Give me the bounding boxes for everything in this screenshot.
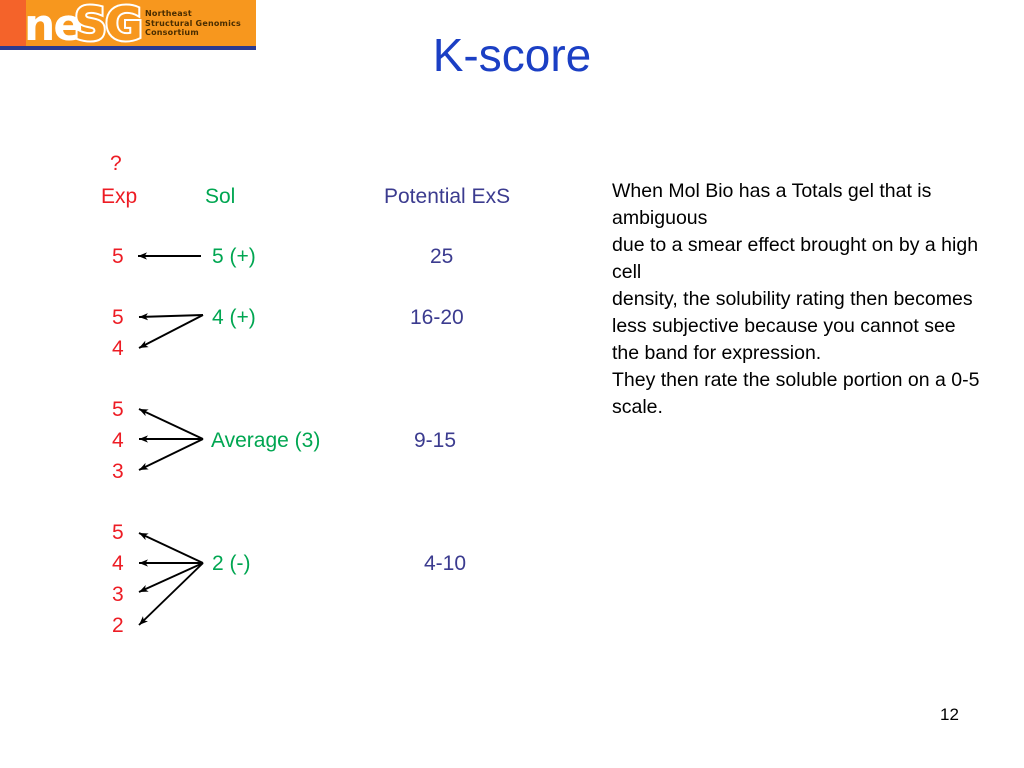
table-row: 16-20	[410, 306, 464, 330]
table-row: 5	[112, 306, 124, 330]
column-header-exp: Exp	[101, 185, 137, 209]
arrow-row4-to-5	[139, 533, 203, 563]
table-row: 4 (+)	[212, 306, 256, 330]
page-number: 12	[940, 705, 959, 725]
table-row: 5	[112, 245, 124, 269]
arrow-row2-to-5	[139, 315, 203, 317]
table-row: 9-15	[414, 429, 456, 453]
table-row: 3	[112, 583, 124, 607]
table-row: 2	[112, 614, 124, 638]
table-row: 4	[112, 552, 124, 576]
explanatory-note: When Mol Bio has a Totals gel that is am…	[612, 178, 982, 421]
column-header-sol: Sol	[205, 185, 235, 209]
arrow-row4-to-3	[139, 563, 203, 592]
table-row: 4-10	[424, 552, 466, 576]
column-header-potential-exs: Potential ExS	[384, 185, 510, 209]
table-row: Average (3)	[211, 429, 320, 453]
table-row: 5 (+)	[212, 245, 256, 269]
table-row: 4	[112, 429, 124, 453]
arrow-row4-to-2	[139, 563, 203, 625]
table-row: 5	[112, 521, 124, 545]
table-row: 2 (-)	[212, 552, 251, 576]
question-mark-annotation: ?	[110, 152, 122, 176]
table-row: 3	[112, 460, 124, 484]
arrow-row3-to-5	[139, 409, 203, 439]
arrow-row3-to-3	[139, 439, 203, 470]
table-row: 5	[112, 398, 124, 422]
table-row: 4	[112, 337, 124, 361]
arrow-row2-to-4	[139, 315, 203, 348]
table-row: 25	[430, 245, 453, 269]
